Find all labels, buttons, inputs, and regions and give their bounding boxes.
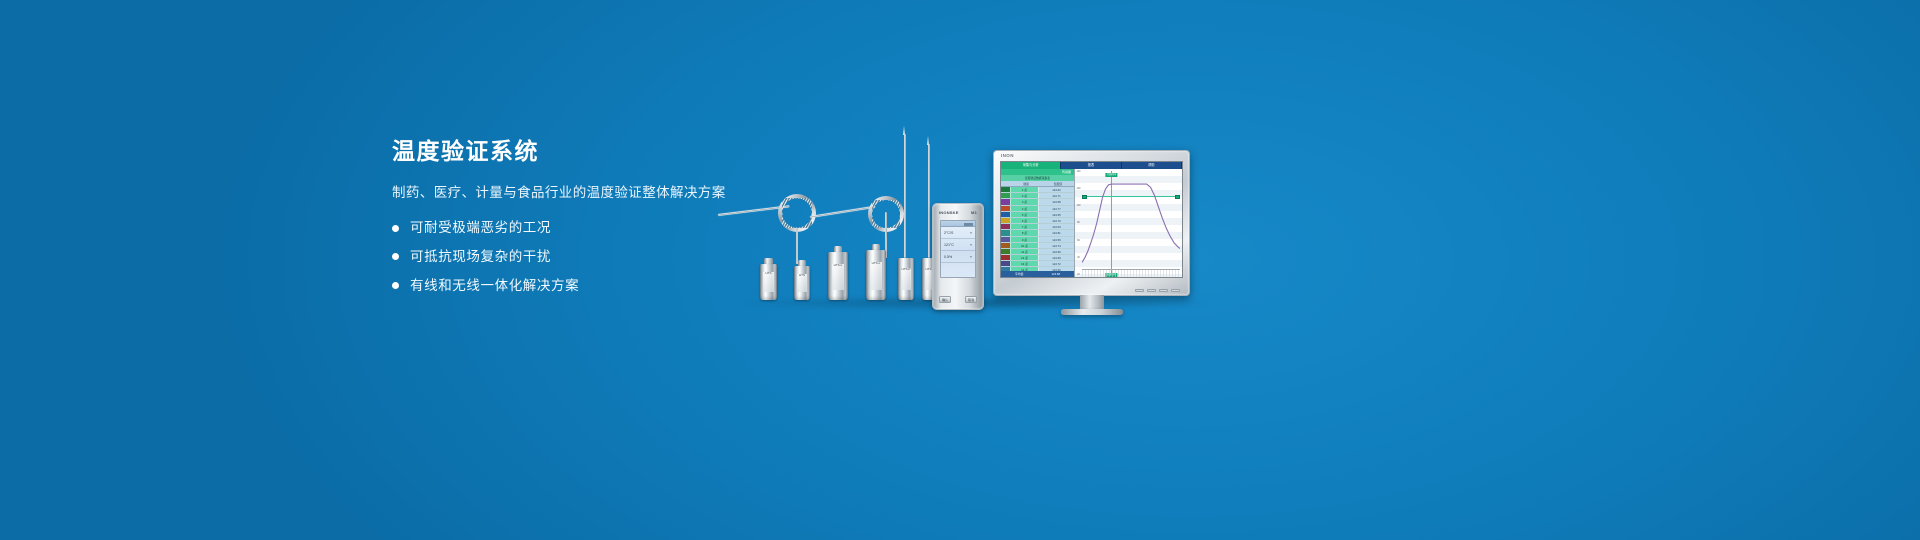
channel-color-swatch — [1001, 199, 1010, 204]
handheld-validator[interactable]: INONSKE M1 2°C/S » 121°C » 0.5% » — [932, 203, 984, 310]
column-header-swatch — [1001, 181, 1010, 186]
y-axis-tick: 20 — [1077, 273, 1080, 276]
y-axis-tick: 40 — [1077, 256, 1080, 259]
cell-channel: 9 点 — [1010, 237, 1038, 242]
column-header-channel: 通道 — [1010, 181, 1042, 186]
logger-big-antenna — [885, 212, 887, 238]
software-body: 传感器 温度验证数据采集表 通道 温度值 1 点124.622 点124.713… — [1001, 169, 1182, 277]
channel-color-swatch — [1001, 212, 1010, 217]
needle-probe-long-1-tip — [903, 126, 905, 135]
minus-button[interactable] — [1147, 289, 1156, 292]
channel-color-swatch — [1001, 243, 1010, 248]
cell-channel: 2 点 — [1010, 193, 1038, 198]
power-button[interactable] — [1171, 289, 1180, 292]
handheld-confirm-button[interactable]: 确认 — [939, 296, 951, 303]
channel-color-swatch — [1001, 230, 1010, 235]
logger-small-1-label: HTS — [763, 272, 774, 292]
handheld-row-label: 2°C/S — [944, 231, 953, 235]
logger-mid-2: HTS-L — [866, 250, 886, 300]
column-header-value: 温度值 — [1042, 181, 1074, 186]
channel-color-swatch — [1001, 193, 1010, 198]
handheld-screen-row: 0.5% » — [941, 251, 975, 263]
plus-button[interactable] — [1159, 289, 1168, 292]
handheld-keypad: 确认 取消 — [939, 296, 977, 303]
handheld-row-value: » — [970, 255, 972, 259]
monitor-brand: INON — [1001, 153, 1014, 158]
cell-value: 124.59 — [1038, 237, 1074, 242]
coiled-cable-probe-1-drop — [796, 228, 798, 264]
logger-mid-2-label: HTS-L — [870, 262, 883, 290]
footer-label: 平均值 — [1001, 271, 1038, 277]
tab-help[interactable]: 帮助 — [1122, 162, 1182, 169]
cell-channel: 1 点 — [1010, 187, 1038, 192]
cell-value: 124.74 — [1038, 243, 1074, 248]
product-photo-group: HTS HTS HTS-L HTS-L HTS-P HTS-P INONSKE — [700, 118, 1240, 318]
cell-channel: 11 点 — [1010, 249, 1038, 254]
channel-color-swatch — [1001, 206, 1010, 211]
feature-label: 可耐受极端恶劣的工况 — [410, 219, 551, 237]
logger-tall-1-label: HTS-P — [901, 268, 911, 290]
handheld-brand-row: INONSKE M1 — [933, 210, 983, 215]
coiled-cable-probe-1-coil — [778, 194, 816, 232]
handheld-cancel-button[interactable]: 取消 — [965, 296, 977, 303]
chart-plot-area: 开始时间 结束时间 — [1082, 171, 1180, 269]
bullet-dot-icon — [392, 282, 399, 289]
cell-value: 124.77 — [1038, 206, 1074, 211]
coiled-cable-probe-2-lead — [810, 206, 876, 218]
y-axis-tick: 120 — [1077, 187, 1081, 190]
validation-monitor: INON 采集与分析 报表 帮助 传感器 温度验证数据采集表 通道 — [993, 150, 1190, 296]
y-axis-tick: 100 — [1077, 204, 1081, 207]
temperature-curve — [1082, 171, 1180, 269]
channel-color-swatch — [1001, 224, 1010, 229]
handheld-status-bar — [941, 221, 975, 227]
logger-small-1: HTS — [760, 264, 777, 300]
channel-color-swatch — [1001, 261, 1010, 266]
cell-value: 124.72 — [1038, 261, 1074, 266]
cell-channel: 4 点 — [1010, 206, 1038, 211]
y-axis-tick-labels: 14012010080604020 — [1075, 169, 1082, 277]
needle-probe-long-2 — [928, 144, 930, 258]
bullet-dot-icon — [392, 253, 399, 260]
cell-channel: 6 点 — [1010, 218, 1038, 223]
logger-small-2: HTS — [794, 266, 810, 300]
logger-mid-1: HTS-L — [828, 252, 848, 300]
channel-color-swatch — [1001, 237, 1010, 242]
monitor-button-row — [1135, 289, 1180, 292]
tab-report[interactable]: 报表 — [1061, 162, 1121, 169]
table-body[interactable]: 1 点124.622 点124.713 点124.584 点124.775 点1… — [1001, 187, 1074, 271]
cell-value: 124.69 — [1038, 255, 1074, 260]
monitor-stand-base — [1061, 309, 1123, 315]
handheld-row-label: 121°C — [944, 243, 954, 247]
handheld-model: M1 — [971, 210, 977, 215]
cell-value: 124.58 — [1038, 199, 1074, 204]
feature-label: 可抵抗现场复杂的干扰 — [410, 248, 551, 266]
needle-probe-long-1 — [904, 134, 906, 258]
monitor-stand-neck — [1080, 295, 1104, 310]
handheld-row-value: » — [970, 243, 972, 247]
cell-channel: 5 点 — [1010, 212, 1038, 217]
x-axis — [1082, 269, 1180, 277]
y-axis-tick: 140 — [1077, 170, 1081, 173]
cell-channel: 12 点 — [1010, 255, 1038, 260]
cell-value: 124.63 — [1038, 224, 1074, 229]
software-tab-bar: 采集与分析 报表 帮助 — [1001, 162, 1182, 169]
cell-channel: 7 点 — [1010, 224, 1038, 229]
handheld-brand: INONSKE — [939, 210, 959, 215]
footer-value: 124.68 — [1038, 271, 1075, 277]
cell-channel: 13 点 — [1010, 261, 1038, 266]
channel-color-swatch — [1001, 255, 1010, 260]
channel-color-swatch — [1001, 218, 1010, 223]
y-axis-tick: 80 — [1077, 221, 1080, 224]
cell-value: 124.71 — [1038, 193, 1074, 198]
cell-channel: 8 点 — [1010, 230, 1038, 235]
monitor-screen: 采集与分析 报表 帮助 传感器 温度验证数据采集表 通道 温度值 — [1000, 161, 1183, 278]
hero-banner: 温度验证系统 制药、医疗、计量与食品行业的温度验证整体解决方案 可耐受极端恶劣的… — [0, 0, 1920, 540]
cell-channel: 10 点 — [1010, 243, 1038, 248]
handheld-row-value: » — [970, 231, 972, 235]
y-axis-tick: 60 — [1077, 239, 1080, 242]
cell-value: 124.70 — [1038, 218, 1074, 223]
tab-acquisition[interactable]: 采集与分析 — [1001, 162, 1061, 169]
handheld-screen-row: 2°C/S » — [941, 227, 975, 239]
needle-probe-long-2-tip — [927, 136, 929, 145]
cell-channel: 3 点 — [1010, 199, 1038, 204]
cell-value: 124.62 — [1038, 187, 1074, 192]
temperature-chart[interactable]: 14012010080604020 开始时间 结束时间 — [1075, 169, 1182, 277]
cell-value: 124.81 — [1038, 230, 1074, 235]
table-footer-row: 平均值 124.68 — [1001, 271, 1074, 277]
handheld-row-label: 0.5% — [944, 255, 952, 259]
cell-value: 124.66 — [1038, 249, 1074, 254]
handheld-screen: 2°C/S » 121°C » 0.5% » — [940, 220, 976, 278]
handheld-screen-row: 121°C » — [941, 239, 975, 251]
feature-label: 有线和无线一体化解决方案 — [410, 277, 579, 295]
logger-small-2-label: HTS — [797, 274, 807, 292]
bullet-dot-icon — [392, 225, 399, 232]
logger-mid-1-label: HTS-L — [832, 264, 845, 290]
logger-tall-1: HTS-P — [898, 258, 914, 300]
channel-color-swatch — [1001, 249, 1010, 254]
sensor-data-table: 传感器 温度验证数据采集表 通道 温度值 1 点124.622 点124.713… — [1001, 169, 1075, 277]
cell-value: 124.65 — [1038, 212, 1074, 217]
channel-color-swatch — [1001, 187, 1010, 192]
menu-button[interactable] — [1135, 289, 1144, 292]
